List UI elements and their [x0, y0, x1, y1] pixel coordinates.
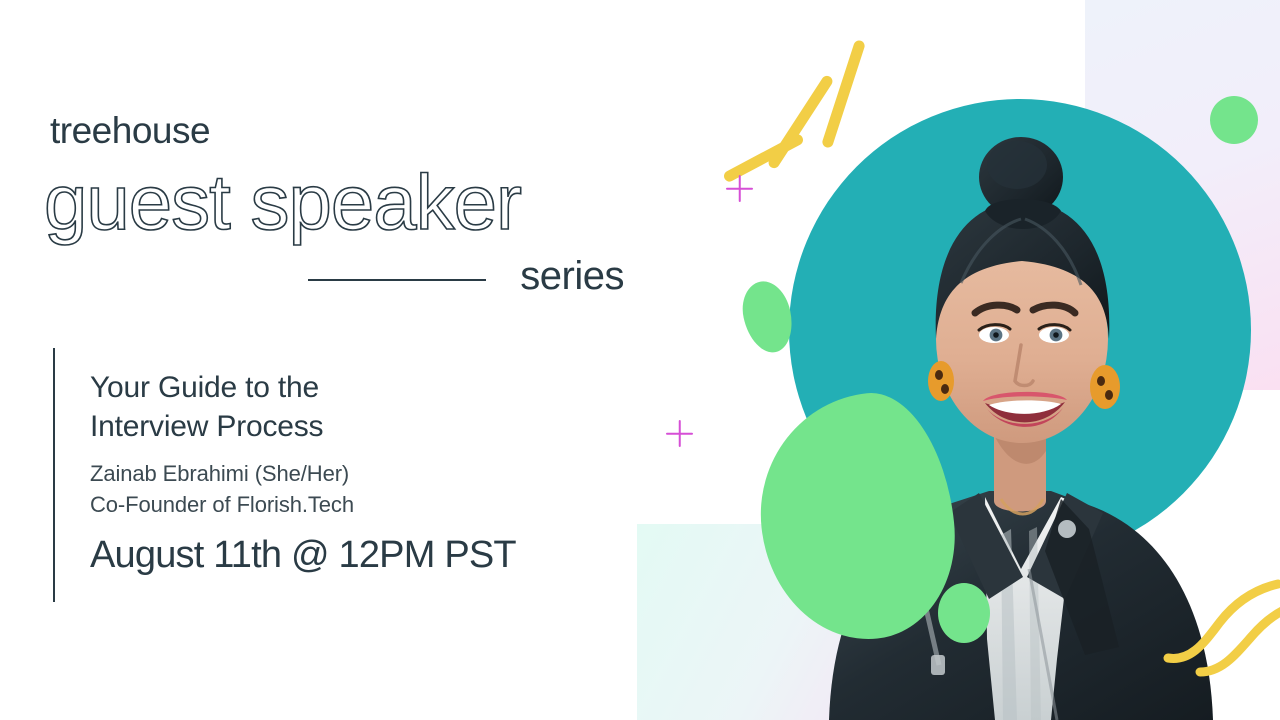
speaker-block: Zainab Ebrahimi (She/Her) Co-Founder of … [90, 458, 610, 520]
event-datetime: August 11th @ 12PM PST [90, 534, 610, 577]
green-dot-shape [938, 583, 990, 643]
series-label: series [520, 254, 624, 299]
brand-wordmark: treehouse [50, 110, 210, 152]
plus-mark-icon-upper [726, 175, 753, 202]
talk-details: Your Guide to the Interview Process Zain… [90, 368, 610, 577]
talk-title: Your Guide to the Interview Process [90, 368, 610, 446]
series-row: series [308, 254, 624, 306]
series-divider-rule [308, 279, 486, 281]
plus-mark-icon-lower [666, 420, 693, 447]
speaker-name: Zainab Ebrahimi (She/Her) [90, 458, 610, 489]
talk-title-line-2: Interview Process [90, 407, 610, 446]
headline-outline: guest speaker [44, 163, 521, 241]
talk-title-line-1: Your Guide to the [90, 368, 610, 407]
vertical-accent-rule [53, 348, 55, 602]
promo-slide: treehouse guest speaker series Your Guid… [0, 0, 1280, 720]
yellow-wave-shape [1160, 570, 1280, 680]
green-dot-shape-top-right [1210, 96, 1258, 144]
speaker-role: Co-Founder of Florish.Tech [90, 489, 610, 520]
yellow-ray-shape-1 [821, 39, 866, 149]
